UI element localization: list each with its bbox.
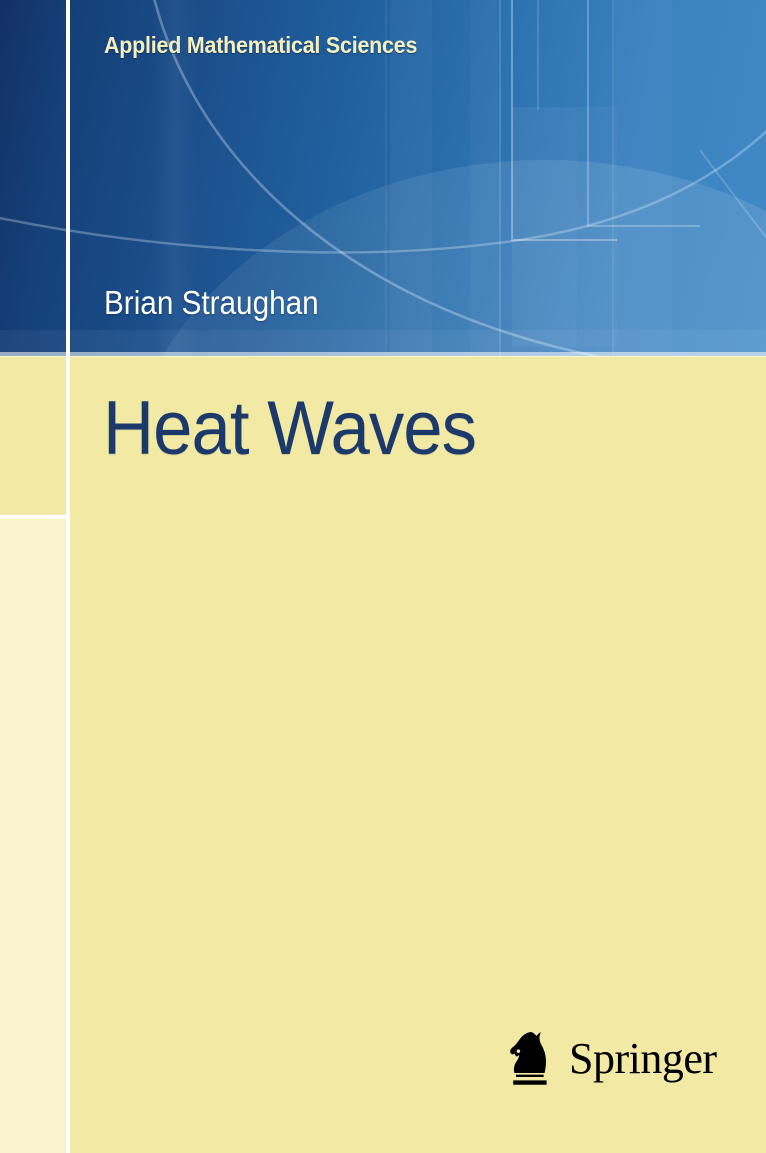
book-title: Heat Waves (103, 385, 476, 472)
book-cover: Applied Mathematical Sciences Brian Stra… (0, 0, 766, 1153)
series-title: Applied Mathematical Sciences (104, 32, 417, 59)
author-name: Brian Straughan (104, 284, 319, 322)
translucent-block (512, 107, 577, 347)
panel-bottom-edge (0, 352, 766, 357)
vertical-tone-band (470, 0, 498, 356)
publisher-logo: Springer (506, 1028, 706, 1090)
spine-vertical-divider (66, 0, 70, 1153)
springer-knight-icon (506, 1030, 560, 1088)
publisher-wordmark: Springer (569, 1037, 717, 1081)
spine-strip-lower (0, 519, 66, 1153)
spine-horizontal-divider (0, 515, 66, 519)
vertical-tone-band (612, 0, 672, 356)
